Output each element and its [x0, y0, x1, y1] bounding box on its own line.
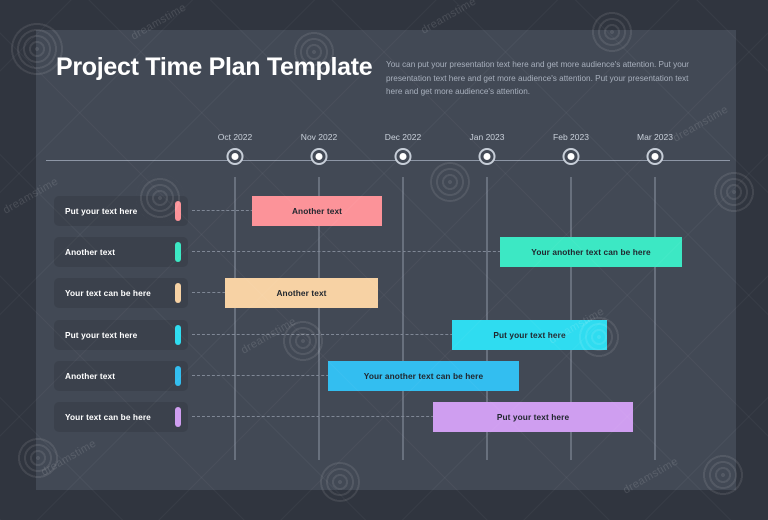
- task-row: Your text can be hereAnother text: [36, 278, 736, 308]
- task-label-chip[interactable]: Put your text here: [54, 196, 188, 226]
- timeline-tick: Jan 2023: [479, 148, 496, 165]
- task-bar[interactable]: Your another text can be here: [500, 237, 682, 267]
- task-connector-line: [192, 416, 469, 417]
- task-label-chip[interactable]: Put your text here: [54, 320, 188, 350]
- task-row: Another textYour another text can be her…: [36, 237, 736, 267]
- task-label-text: Your text can be here: [54, 412, 151, 422]
- task-accent-swatch: [175, 325, 181, 345]
- task-bar[interactable]: Put your text here: [433, 402, 633, 432]
- task-bar[interactable]: Another text: [252, 196, 382, 226]
- timeline-tick: Oct 2022: [227, 148, 244, 165]
- task-label-text: Put your text here: [54, 330, 137, 340]
- page-description: You can put your presentation text here …: [386, 58, 696, 99]
- timeline-marker-icon: [647, 148, 664, 165]
- task-row: Your text can be herePut your text here: [36, 402, 736, 432]
- page-title: Project Time Plan Template: [56, 52, 386, 83]
- task-bar-text: Another text: [276, 288, 326, 298]
- task-bar[interactable]: Your another text can be here: [328, 361, 519, 391]
- slide-card: Project Time Plan Template You can put y…: [36, 30, 736, 490]
- task-connector-line: [192, 334, 488, 335]
- task-accent-swatch: [175, 366, 181, 386]
- task-bar[interactable]: Another text: [225, 278, 378, 308]
- timeline-axis: [46, 160, 730, 161]
- task-label-chip[interactable]: Your text can be here: [54, 402, 188, 432]
- timeline-marker-icon: [227, 148, 244, 165]
- timeline-tick-label: Mar 2023: [637, 132, 673, 142]
- timeline-tick-label: Dec 2022: [385, 132, 421, 142]
- task-accent-swatch: [175, 201, 181, 221]
- task-bar-text: Another text: [292, 206, 342, 216]
- timeline-tick: Dec 2022: [395, 148, 412, 165]
- task-label-chip[interactable]: Another text: [54, 361, 188, 391]
- task-row: Put your text herePut your text here: [36, 320, 736, 350]
- task-label-chip[interactable]: Another text: [54, 237, 188, 267]
- timeline-tick-label: Oct 2022: [218, 132, 253, 142]
- timeline-tick-label: Feb 2023: [553, 132, 589, 142]
- timeline-tick: Nov 2022: [311, 148, 328, 165]
- task-label-text: Put your text here: [54, 206, 137, 216]
- timeline-marker-icon: [395, 148, 412, 165]
- task-bar-text: Put your text here: [497, 412, 569, 422]
- task-label-text: Your text can be here: [54, 288, 151, 298]
- task-bar-text: Put your text here: [493, 330, 565, 340]
- task-row: Put your text hereAnother text: [36, 196, 736, 226]
- task-row: Another textYour another text can be her…: [36, 361, 736, 391]
- task-label-text: Another text: [54, 371, 115, 381]
- timeline-tick: Feb 2023: [563, 148, 580, 165]
- task-bar-text: Your another text can be here: [531, 247, 650, 257]
- timeline-marker-icon: [311, 148, 328, 165]
- timeline-tick: Mar 2023: [647, 148, 664, 165]
- timeline-marker-icon: [563, 148, 580, 165]
- slide-canvas: Project Time Plan Template You can put y…: [0, 0, 768, 520]
- task-bar[interactable]: Put your text here: [452, 320, 607, 350]
- task-bar-text: Your another text can be here: [364, 371, 483, 381]
- task-accent-swatch: [175, 407, 181, 427]
- task-label-chip[interactable]: Your text can be here: [54, 278, 188, 308]
- timeline-marker-icon: [479, 148, 496, 165]
- timeline-tick-label: Jan 2023: [470, 132, 505, 142]
- task-label-text: Another text: [54, 247, 115, 257]
- timeline-tick-label: Nov 2022: [301, 132, 337, 142]
- task-connector-line: [192, 251, 536, 252]
- task-accent-swatch: [175, 242, 181, 262]
- task-accent-swatch: [175, 283, 181, 303]
